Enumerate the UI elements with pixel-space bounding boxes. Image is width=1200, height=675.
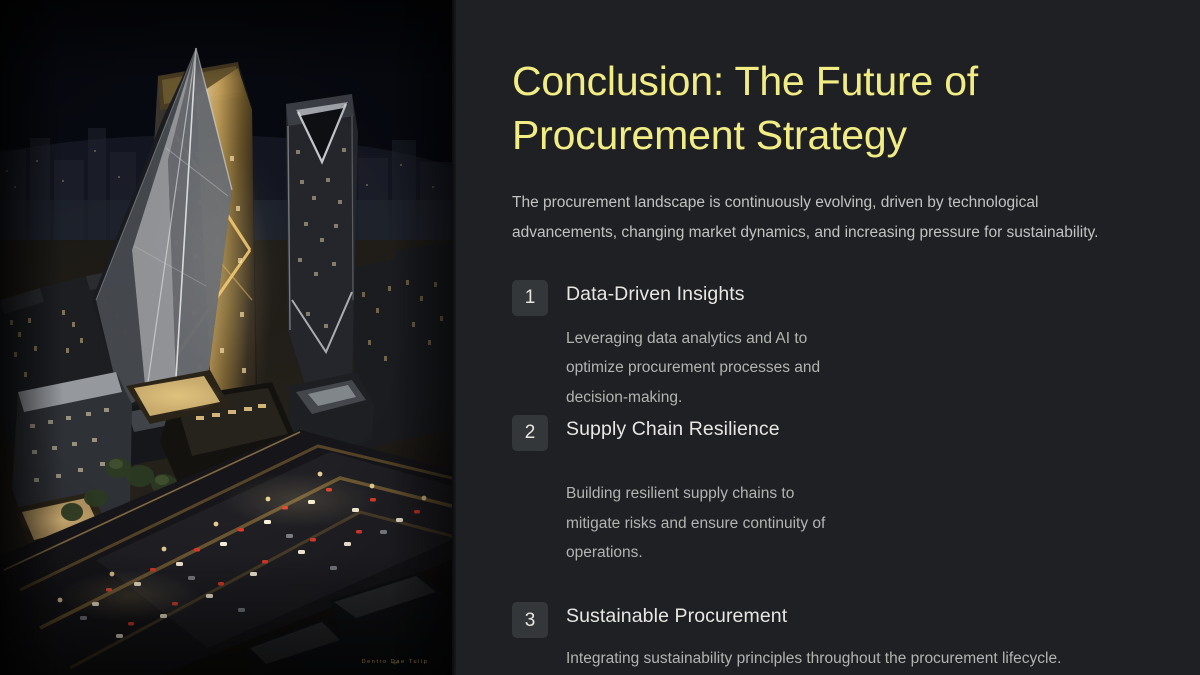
key-point-1-body: Leveraging data analytics and AI to opti…: [566, 324, 848, 413]
cityscape-photo: Dentro Dae Tulip: [0, 0, 452, 675]
content-panel: Conclusion: The Future of Procurement St…: [452, 0, 1200, 675]
slide: Dentro Dae Tulip Conclusion: The Future …: [0, 0, 1200, 675]
key-points-grid: 1 Data-Driven Insights Leveraging data a…: [512, 278, 1140, 674]
key-point-2-body: Building resilient supply chains to miti…: [566, 479, 848, 568]
key-point-3-number: 3: [512, 602, 548, 638]
key-point-1: 1 Data-Driven Insights Leveraging data a…: [512, 278, 848, 413]
key-point-3-body: Integrating sustainability principles th…: [566, 644, 1140, 674]
cityscape-illustration: [0, 0, 452, 675]
key-point-1-header: 1 Data-Driven Insights: [512, 278, 848, 316]
slide-title: Conclusion: The Future of Procurement St…: [512, 54, 1072, 162]
key-point-2: 2 Supply Chain Resilience Building resil…: [512, 413, 848, 568]
key-point-1-number: 1: [512, 280, 548, 316]
key-point-2-title: Supply Chain Resilience: [566, 413, 780, 443]
panel-divider: [452, 0, 456, 675]
key-point-3: 3 Sustainable Procurement Integrating su…: [512, 600, 1140, 674]
slide-subtitle: The procurement landscape is continuousl…: [512, 188, 1124, 248]
key-point-2-number: 2: [512, 415, 548, 451]
key-point-3-header: 3 Sustainable Procurement: [512, 600, 1140, 638]
key-point-3-title: Sustainable Procurement: [566, 600, 787, 630]
key-point-1-title: Data-Driven Insights: [566, 278, 745, 308]
key-point-2-header: 2 Supply Chain Resilience: [512, 413, 848, 451]
